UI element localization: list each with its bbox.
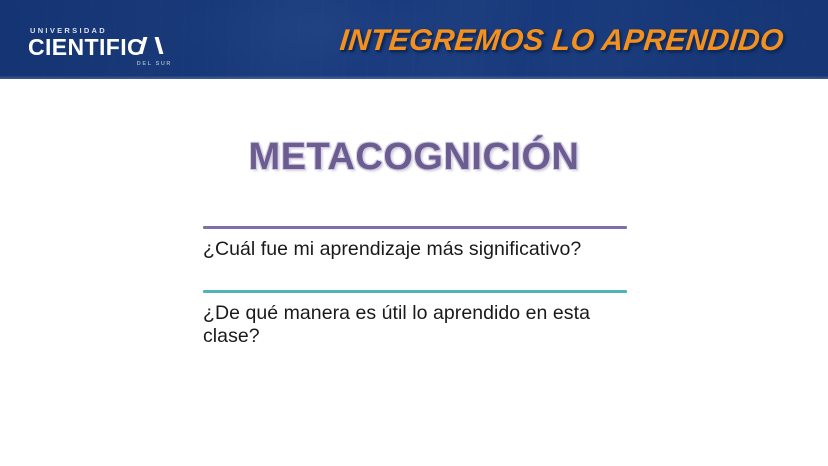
header-title: INTEGREMOS LO APRENDIDO xyxy=(339,24,786,58)
logo-wordmark: CIENTIFIC xyxy=(28,34,144,60)
question-block-2: ¿De qué manera es útil lo aprendido en e… xyxy=(203,290,627,348)
question-text-2: ¿De qué manera es útil lo aprendido en e… xyxy=(203,302,603,348)
question-divider-purple xyxy=(203,226,627,229)
logo-main-line: CIENTIFIC xyxy=(28,35,178,59)
section-title: METACOGNICIÓN xyxy=(0,136,828,179)
logo-sub-line: DEL SUR xyxy=(28,61,172,67)
question-text-1: ¿Cuál fue mi aprendizaje más significati… xyxy=(203,238,603,261)
question-block-1: ¿Cuál fue mi aprendizaje más significati… xyxy=(203,226,627,261)
question-divider-teal xyxy=(203,290,627,293)
header-bottom-edge xyxy=(0,76,828,79)
university-logo: UNIVERSIDAD CIENTIFIC DEL SUR xyxy=(28,26,178,68)
slide-canvas: UNIVERSIDAD CIENTIFIC DEL SUR INTEGREMOS… xyxy=(0,0,828,466)
